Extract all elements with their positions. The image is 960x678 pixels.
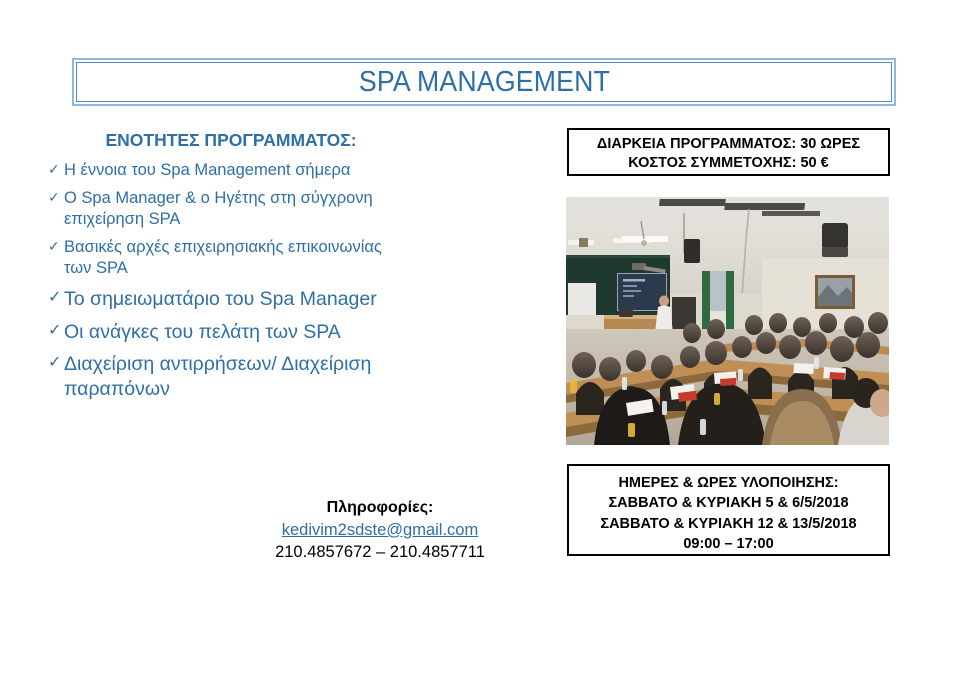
check-icon: ✓ xyxy=(48,320,64,341)
modules-heading: ΕΝΟΤΗΤΕΣ ΠΡΟΓΡΑΜΜΑΤΟΣ: xyxy=(62,130,400,151)
lecture-hall-photo xyxy=(566,197,889,445)
check-icon: ✓ xyxy=(48,352,64,373)
schedule-hours: 09:00 – 17:00 xyxy=(569,534,888,554)
module-item-label: Διαχείριση αντιρρήσεων/ Διαχείριση παραπ… xyxy=(64,352,400,402)
module-item: ✓ Διαχείριση αντιρρήσεων/ Διαχείριση παρ… xyxy=(48,352,400,402)
check-icon: ✓ xyxy=(48,160,64,179)
page-title: SPA MANAGEMENT xyxy=(358,66,609,99)
module-item-label: Οι ανάγκες του πελάτη των SPA xyxy=(64,320,400,345)
module-item: ✓ Η έννοια του Spa Management σήμερα xyxy=(48,160,400,181)
contact-label: Πληροφορίες: xyxy=(190,497,570,519)
module-item: ✓ Βασικές αρχές επιχειρησιακής επικοινων… xyxy=(48,237,400,279)
check-icon: ✓ xyxy=(48,188,64,207)
schedule-dates-2: ΣΑΒΒΑΤΟ & ΚΥΡΙΑΚΗ 12 & 13/5/2018 xyxy=(569,514,888,534)
module-item: ✓ Το σημειωματάριο του Spa Manager xyxy=(48,287,400,312)
modules-section: ΕΝΟΤΗΤΕΣ ΠΡΟΓΡΑΜΜΑΤΟΣ: ✓ Η έννοια του Sp… xyxy=(48,130,400,410)
module-item-label: Η έννοια του Spa Management σήμερα xyxy=(64,160,400,181)
check-icon: ✓ xyxy=(48,287,64,308)
module-item-label: Ο Spa Manager & ο Ηγέτης στη σύγχρονη επ… xyxy=(64,188,400,230)
schedule-heading: ΗΜΕΡΕΣ & ΩΡΕΣ ΥΛΟΠΟΙΗΣΗΣ: xyxy=(569,473,888,493)
module-item-label: Βασικές αρχές επιχειρησιακής επικοινωνία… xyxy=(64,237,400,279)
schedule-box: ΗΜΕΡΕΣ & ΩΡΕΣ ΥΛΟΠΟΙΗΣΗΣ: ΣΑΒΒΑΤΟ & ΚΥΡΙ… xyxy=(567,464,890,556)
contact-phones: 210.4857672 – 210.4857711 xyxy=(190,541,570,563)
module-item: ✓ Οι ανάγκες του πελάτη των SPA xyxy=(48,320,400,345)
duration-line: ΔΙΑΡΚΕΙΑ ΠΡΟΓΡΑΜΜΑΤΟΣ: 30 ΩΡΕΣ xyxy=(569,135,888,154)
module-item: ✓ Ο Spa Manager & ο Ηγέτης στη σύγχρονη … xyxy=(48,188,400,230)
lecture-hall-illustration xyxy=(566,197,889,445)
contact-block: Πληροφορίες: kedivim2sdste@gmail.com 210… xyxy=(190,497,570,563)
check-icon: ✓ xyxy=(48,237,64,256)
module-item-label: Το σημειωματάριο του Spa Manager xyxy=(64,287,400,312)
title-banner: SPA MANAGEMENT xyxy=(72,58,896,106)
schedule-dates-1: ΣΑΒΒΑΤΟ & ΚΥΡΙΑΚΗ 5 & 6/5/2018 xyxy=(569,493,888,513)
duration-cost-box: ΔΙΑΡΚΕΙΑ ΠΡΟΓΡΑΜΜΑΤΟΣ: 30 ΩΡΕΣ ΚΟΣΤΟΣ ΣΥ… xyxy=(567,128,890,176)
cost-line: ΚΟΣΤΟΣ ΣΥΜΜΕΤΟΧΗΣ: 50 € xyxy=(569,154,888,173)
contact-email-link[interactable]: kedivim2sdste@gmail.com xyxy=(190,519,570,541)
title-banner-inner: SPA MANAGEMENT xyxy=(76,62,892,102)
